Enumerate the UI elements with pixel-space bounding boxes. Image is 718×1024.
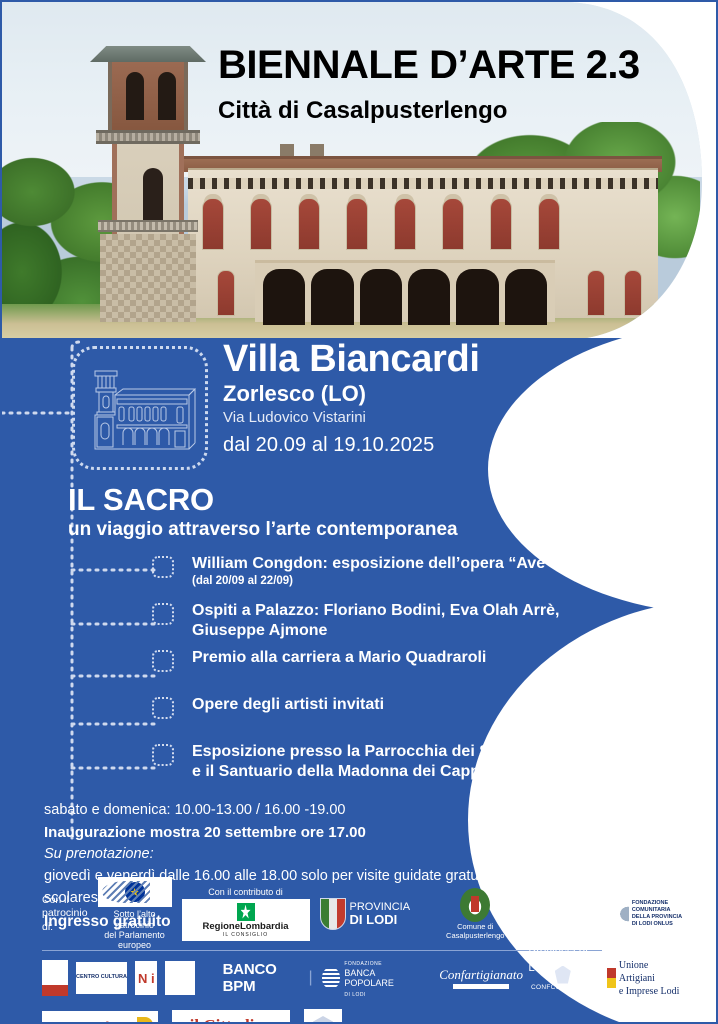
list-item: William Congdon: esposizione dell’opera … [2,554,718,598]
villa-lower-window [587,270,605,316]
leaf-icon [137,1017,153,1024]
villa-cornice [188,178,658,189]
flag-icon [607,968,616,988]
sponsor-footer: Con il patrocinio di: ★ Sotto l’alto pat… [42,883,682,1024]
list-item: Premio alla carriera a Mario Quadraroli [2,648,718,692]
eu-caption: Sotto l’alto patrocinio del Parlamento e… [98,909,172,950]
exhibition-theme: IL SACRO un viaggio attraverso l’arte co… [68,484,458,541]
il-cittadino-logo: il Cittadino [172,1010,290,1024]
lombardia-rose-icon [237,903,255,921]
museum-logo [42,960,68,996]
bullet-square-icon [152,744,174,766]
venue-town: Zorlesco (LO) [223,382,480,406]
sponsor-row-media: naturArte il Cittadino [42,1005,682,1024]
banca-popolare-lodi-logo: FONDAZIONE BANCA POPOLARE DI LODI [322,957,415,999]
emblem-icon [313,1016,333,1024]
bank-swirl-icon [322,967,341,989]
unione-artigiani-logo: Unione Artigiani e Imprese Lodi [603,964,682,992]
venue-address: Via Ludovico Vistarini [223,409,480,427]
regione-name: RegioneLombardia [203,921,289,932]
list-item: Opere degli artisti invitati [2,695,718,739]
program-item-title-2: e il Santuario della Madonna dei Cappucc… [192,762,674,782]
venue-dates: dal 20.09 al 19.10.2025 [223,434,480,457]
villa-building-icon [72,346,208,470]
villa-lower-window [624,270,642,316]
eu-flag-icon: ★ [98,877,172,907]
patronage-group: Con il patrocinio di: [42,894,88,933]
naturarte-logo: naturArte [42,1011,158,1024]
program-item-title: Ospiti a Palazzo: Floriano Bodini, Eva O… [192,601,559,621]
list-item: Ospiti a Palazzo: Floriano Bodini, Eva O… [2,601,718,645]
villa-photo-banner: BIENNALE D’ARTE 2.3 Città di Casalpuster… [2,2,718,340]
regione-sub: IL CONSIGLIO [223,932,268,938]
page-title: BIENNALE D’ARTE 2.3 [218,44,640,86]
provincia-crest-icon [320,898,346,930]
page-subtitle: Città di Casalpusterlengo [218,97,640,125]
patronage-label: Con il patrocinio di: [42,894,88,933]
partner-logo-small [304,1009,342,1024]
confartigianato-logo: Confartigianato [439,967,523,989]
bullet-square-icon [152,697,174,719]
banco-bpm-logo: BANCO BPM [223,961,301,995]
program-item-line2-note: (Chiesa Giubilare) [531,765,634,779]
theme-subtitle: un viaggio attraverso l’arte contemporan… [68,519,458,541]
villa-portico [255,260,555,322]
venue-section: Villa Biancardi Zorlesco (LO) Via Ludovi… [2,338,718,482]
regione-lombardia-logo: Con il contributo di RegioneLombardia IL… [182,887,310,941]
villa-window-row [202,198,652,252]
fondazione-comunitaria-logo: FONDAZIONE COMUNITARIA DELLA PROVINCIA D… [612,899,686,929]
eu-parliament-logo: ★ Sotto l’alto patrocinio del Parlamento… [98,877,172,950]
hand-icon [615,902,629,926]
venue-details: Villa Biancardi Zorlesco (LO) Via Ludovi… [223,340,480,457]
confcommercio-logo: CONFCOMMERCIO [531,966,594,991]
provincia-line2: DI LODI [350,912,398,927]
program-item-note: (dal 20/09 al 22/09) [192,575,606,589]
fondazione-text: Con il contributo della Fondazione Comun… [528,852,593,976]
bullet-square-icon [152,603,174,625]
centro-cultura-logo: CENTRO CULTURA [76,962,127,994]
theme-title: IL SACRO [68,484,458,515]
opening-event: Inaugurazione mostra 20 settembre ore 17… [44,822,684,845]
poster-title-block: BIENNALE D’ARTE 2.3 Città di Casalpuster… [218,44,640,125]
noi-logo: N i [135,961,157,995]
bullet-square-icon [152,556,174,578]
program-item-title: Esposizione presso la Parrocchia dei SS.… [192,742,674,762]
villa-lower-window [217,270,235,316]
program-item-title: William Congdon: esposizione dell’opera … [192,554,606,574]
program-item-title: Premio alla carriera a Mario Quadraroli [192,648,486,668]
comune-crest-icon [460,888,490,922]
opening-hours: sabato e domenica: 10.00-13.00 / 16.00 -… [44,800,684,822]
poster-content: Villa Biancardi Zorlesco (LO) Via Ludovi… [2,338,718,482]
comune-logo: Comune di Casalpusterlengo [446,888,504,940]
bullet-square-icon [152,650,174,672]
program-item-line2-text: e il Santuario della Madonna dei Cappucc… [192,763,526,780]
villa-tower [88,42,208,322]
partner-logo [165,961,194,995]
provincia-lodi-logo: PROVINCIA DI LODI [320,898,411,930]
program-item-title: Opere degli artisti invitati [192,695,384,715]
list-item: Esposizione presso la Parrocchia dei SS.… [2,742,718,786]
event-poster: BIENNALE D’ARTE 2.3 Città di Casalpuster… [0,0,718,1024]
program-list: William Congdon: esposizione dell’opera … [2,554,718,789]
contribution-label: Con il contributo di [208,887,283,897]
comune-line2: Casalpusterlengo [446,931,504,940]
program-item-title-2: Giuseppe Ajmone [192,621,559,641]
venue-name: Villa Biancardi [223,340,480,378]
sponsor-row-primary: Con il patrocinio di: ★ Sotto l’alto pat… [42,883,682,945]
shield-icon [555,966,571,984]
